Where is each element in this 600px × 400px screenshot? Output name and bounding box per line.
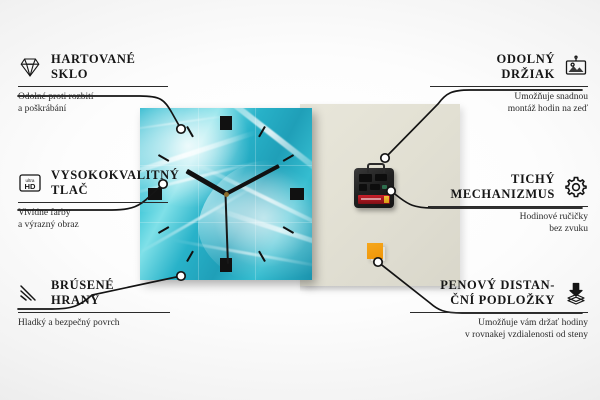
divider <box>428 206 588 207</box>
ultra-hd-icon: ultra HD <box>18 171 42 195</box>
feature-high-quality-print: ultra HD VYSOKOKVALITNÝ TLAČ Vivídne far… <box>18 168 168 231</box>
feature-durable-holder: ODOLNÝ DRŽIAK Umožňuje snadnou montáž ho… <box>430 52 588 115</box>
feature-title: PENOVÝ DISTAN- ČNÍ PODLOŽKY <box>440 278 555 307</box>
leader-dot <box>177 125 185 133</box>
feature-desc: Hladký a bezpečný povrch <box>18 318 170 330</box>
feature-desc: Vivídne farby a výrazný obraz <box>18 208 168 231</box>
feature-silent-mechanism: TICHÝ MECHANIZMUS Hodinové ručičky bez z… <box>428 172 588 235</box>
diamond-icon <box>18 55 42 79</box>
picture-frame-icon <box>564 55 588 79</box>
ground-edges-icon <box>18 281 42 305</box>
leader-dot <box>177 272 185 280</box>
svg-text:HD: HD <box>25 182 36 191</box>
leader-dot <box>374 258 382 266</box>
feature-desc: Umožňuje snadnou montáž hodin na zeď <box>430 92 588 115</box>
feature-tempered-glass: HARTOVANÉ SKLO Odolné proti rozbití a po… <box>18 52 168 115</box>
feature-title: VYSOKOKVALITNÝ TLAČ <box>51 168 179 197</box>
feature-title: BRÚSENÉ HRANY <box>51 278 114 307</box>
feature-desc: Hodinové ručičky bez zvuku <box>428 212 588 235</box>
leader-dot <box>381 154 389 162</box>
leader-dot <box>387 187 395 195</box>
arrow-down-layers-icon <box>564 281 588 305</box>
feature-desc: Odolné proti rozbití a poškrábání <box>18 92 168 115</box>
divider <box>18 86 168 87</box>
product-feature-infographic: HARTOVANÉ SKLO Odolné proti rozbití a po… <box>0 0 600 400</box>
divider <box>18 312 170 313</box>
feature-title: ODOLNÝ DRŽIAK <box>497 52 555 81</box>
feature-ground-edges: BRÚSENÉ HRANY Hladký a bezpečný povrch <box>18 278 170 330</box>
divider <box>430 86 588 87</box>
feature-desc: Umožňuje vám držať hodiny v rovnakej vzd… <box>410 318 588 341</box>
divider <box>410 312 588 313</box>
feature-title: HARTOVANÉ SKLO <box>51 52 135 81</box>
gear-icon <box>564 175 588 199</box>
feature-foam-spacers: PENOVÝ DISTAN- ČNÍ PODLOŽKY Umožňuje vám… <box>410 278 588 341</box>
divider <box>18 202 168 203</box>
feature-title: TICHÝ MECHANIZMUS <box>450 172 555 201</box>
